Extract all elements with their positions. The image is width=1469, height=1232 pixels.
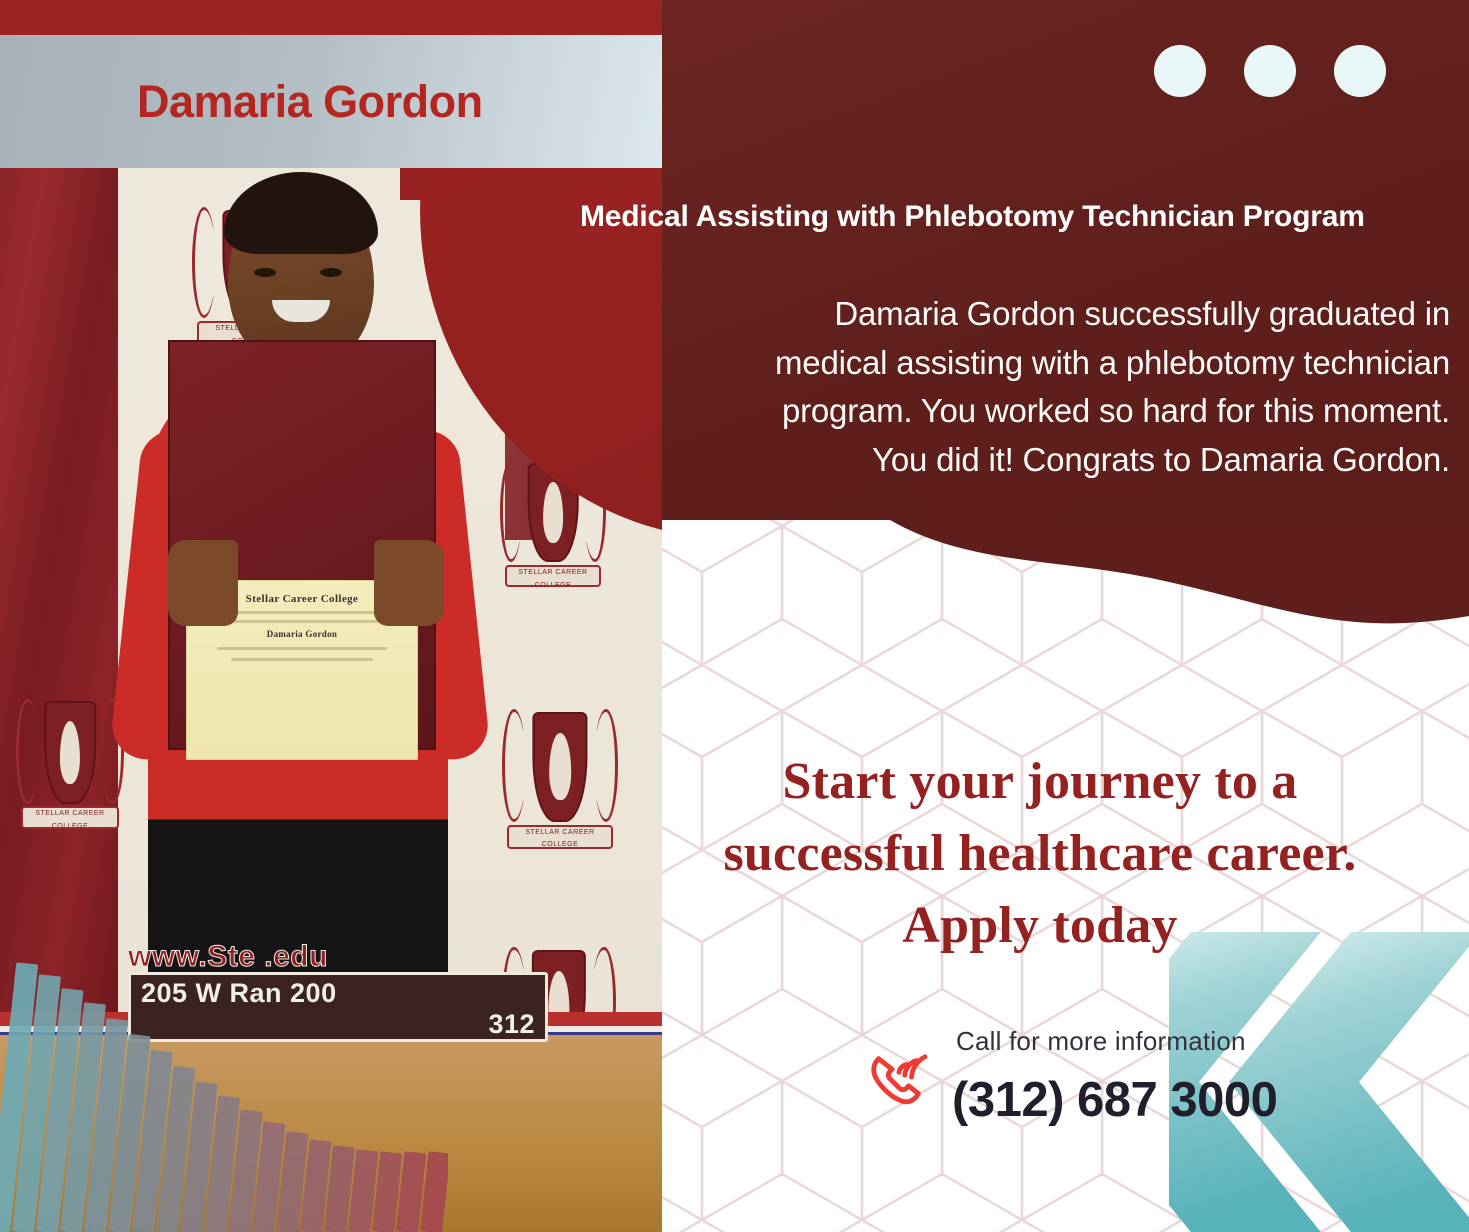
photo-hand-right bbox=[374, 540, 444, 626]
photo-subject-eye-right bbox=[320, 268, 342, 277]
crest-ribbon-text: STELLAR CAREER COLLEGE bbox=[507, 825, 613, 849]
graduate-name-banner: Damaria Gordon bbox=[0, 35, 662, 168]
cta-headline: Start your journey to a successful healt… bbox=[690, 746, 1390, 961]
certificate-rule bbox=[217, 647, 387, 650]
dot-icon bbox=[1244, 45, 1296, 97]
certificate-rule bbox=[225, 620, 379, 623]
backdrop-crest-3: STELLAR CAREER COLLEGE bbox=[500, 700, 620, 852]
dot-icon bbox=[1154, 45, 1206, 97]
photo-subject-eye-left bbox=[254, 268, 276, 277]
program-title: Medical Assisting with Phlebotomy Techni… bbox=[580, 196, 1428, 239]
decorative-bar-fan bbox=[0, 932, 448, 1232]
graduate-name: Damaria Gordon bbox=[137, 76, 483, 128]
crest-ribbon-text: STELLAR CAREER COLLEGE bbox=[505, 565, 602, 587]
congratulation-paragraph: Damaria Gordon successfully graduated in… bbox=[770, 290, 1450, 484]
phone-call-icon bbox=[866, 1048, 928, 1112]
call-label: Call for more information bbox=[956, 1026, 1356, 1057]
certificate-rule bbox=[231, 658, 373, 661]
red-accent-top-left bbox=[0, 0, 430, 36]
decorative-dots bbox=[1154, 45, 1386, 97]
certificate-rule bbox=[211, 611, 393, 614]
dot-icon bbox=[1334, 45, 1386, 97]
phone-number[interactable]: (312) 687 3000 bbox=[952, 1072, 1372, 1128]
promo-poster: STELLAR CAREER COLLEGE STELLAR CAREER CO… bbox=[0, 0, 1469, 1232]
maroon-wave-divider bbox=[640, 520, 1469, 780]
crest-ribbon-text: STELLAR CAREER COLLEGE bbox=[21, 806, 120, 829]
photo-hand-left bbox=[168, 540, 238, 626]
backdrop-crest-4: STELLAR CAREER COLLEGE bbox=[14, 690, 126, 832]
certificate-recipient: Damaria Gordon bbox=[197, 629, 407, 639]
